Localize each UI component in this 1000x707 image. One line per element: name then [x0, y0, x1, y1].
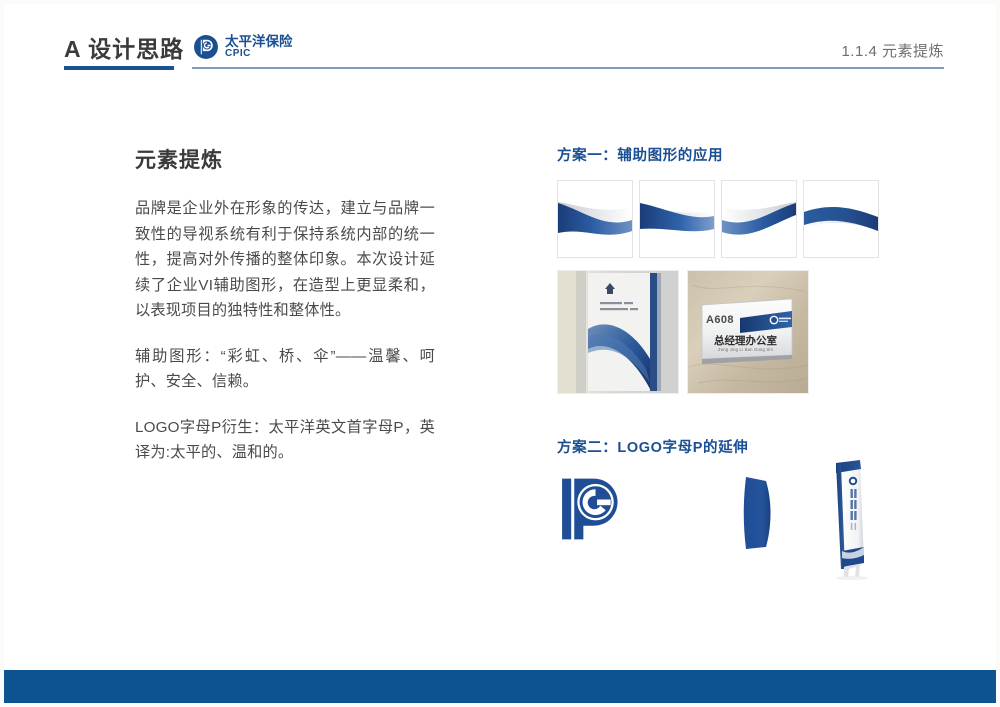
header-divider-rule [192, 67, 944, 69]
directional-sign-photo [557, 270, 679, 394]
totem-logo-icon [849, 477, 857, 485]
footer-bar [4, 670, 1000, 703]
door-plate-photo: A608 总经理办公室 Zong Jing Li Ban Gong Shi [687, 270, 809, 394]
wave-panel-1 [557, 180, 633, 258]
svg-text:总经理办公室: 总经理办公室 [714, 334, 777, 347]
body-paragraph-2: 辅助图形：“彩虹、桥、伞”——温馨、呵护、安全、信赖。 [135, 344, 435, 395]
wave-panel-row [557, 180, 879, 258]
brand-logo: 太平洋保险 CPIC [193, 34, 293, 60]
wave-panel-4 [803, 180, 879, 258]
scheme-two-heading: 方案二：LOGO字母P的延伸 [557, 436, 947, 457]
cpic-logo-icon [193, 34, 219, 60]
totem-pylon-sign [814, 459, 876, 581]
scheme-one-heading: 方案一：辅助图形的应用 [557, 144, 947, 165]
scheme-one-block: 方案一：辅助图形的应用 [557, 144, 947, 165]
svg-text:A608: A608 [706, 314, 734, 326]
section-heading: 元素提炼 [135, 144, 435, 174]
svg-text:Zong Jing Li Ban Gong Shi: Zong Jing Li Ban Gong Shi [718, 347, 773, 352]
wave-panel-3 [721, 180, 797, 258]
cpic-p-logo-mark [556, 471, 632, 547]
scheme-two-graphics [552, 459, 952, 584]
left-content-column: 元素提炼 品牌是企业外在形象的传达，建立与品牌一致性的导视系统有利于保持系统内部… [135, 144, 435, 486]
body-paragraph-1: 品牌是企业外在形象的传达，建立与品牌一致性的导视系统有利于保持系统内部的统一性，… [135, 196, 435, 324]
title-underline-rule [64, 66, 174, 70]
brand-name-cn: 太平洋保险 [225, 35, 293, 49]
slide-page: A 设计思路 太平洋保险 CPIC 1.1.4 元素提炼 元素 [0, 0, 1000, 707]
body-paragraph-3: LOGO字母P衍生：太平洋英文首字母P，英译为:太平的、温和的。 [135, 415, 435, 466]
p-stem-derived-shape [742, 475, 776, 551]
page-title: A 设计思路 [64, 30, 184, 64]
wave-panel-2 [639, 180, 715, 258]
brand-name-en: CPIC [225, 49, 293, 60]
brand-logo-text: 太平洋保险 CPIC [225, 35, 293, 60]
section-number: 1.1.4 元素提炼 [841, 40, 944, 61]
scheme-two-block: 方案二：LOGO字母P的延伸 [557, 436, 947, 457]
photo-row: A608 总经理办公室 Zong Jing Li Ban Gong Shi [557, 270, 809, 394]
page-header: A 设计思路 太平洋保险 CPIC 1.1.4 元素提炼 [4, 4, 1000, 84]
